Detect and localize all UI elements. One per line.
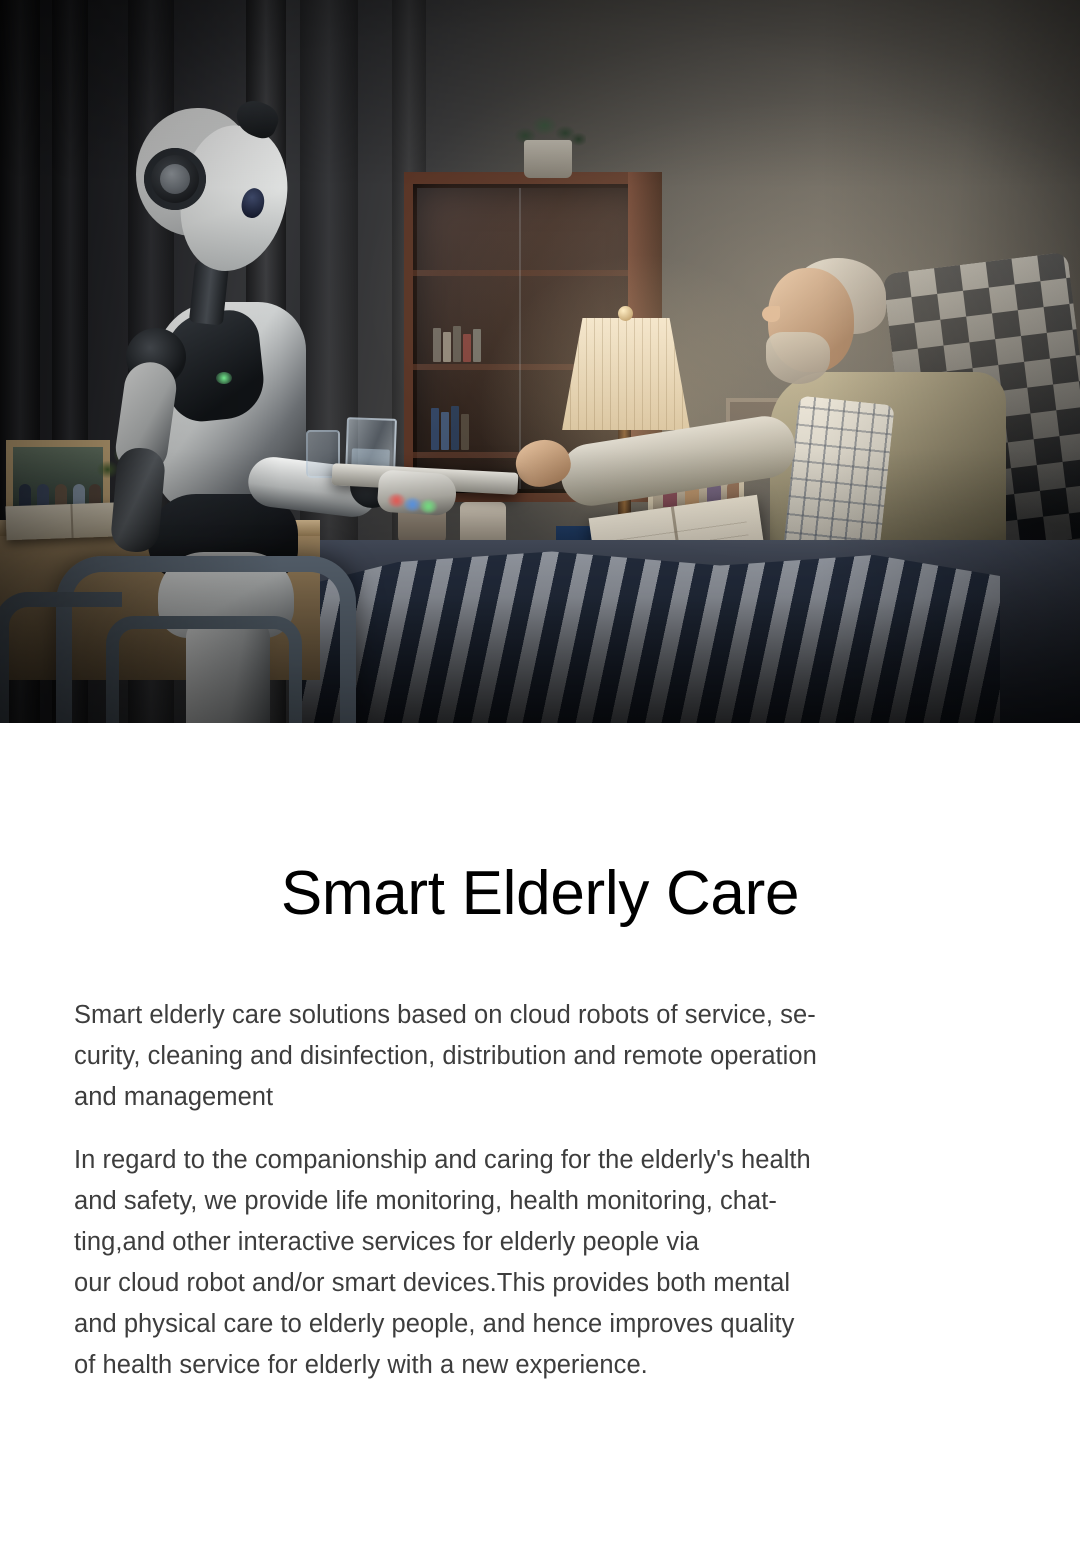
scene-vignette [0,0,1080,723]
hero-scene [0,0,1080,723]
paragraph-detail: In regard to the companionship and carin… [74,1140,1006,1386]
paragraph-line: of health service for elderly with a new… [74,1345,1006,1386]
page-title: Smart Elderly Care [74,863,1006,925]
hero-image [0,0,1080,723]
paragraph-intro: Smart elderly care solutions based on cl… [74,995,1006,1118]
paragraph-line: and safety, we provide life monitoring, … [74,1181,1006,1222]
paragraph-line: ting,and other interactive services for … [74,1222,1006,1263]
paragraph-line: In regard to the companionship and carin… [74,1140,1006,1181]
paragraph-line: and physical care to elderly people, and… [74,1304,1006,1345]
paragraph-line: curity, cleaning and disinfection, distr… [74,1036,1006,1077]
content-area: Smart Elderly Care Smart elderly care so… [0,863,1080,1386]
paragraph-line: and management [74,1077,1006,1118]
page-root: Smart Elderly Care Smart elderly care so… [0,0,1080,1561]
body-copy: Smart elderly care solutions based on cl… [74,995,1006,1386]
paragraph-line: our cloud robot and/or smart devices.Thi… [74,1263,1006,1304]
paragraph-line: Smart elderly care solutions based on cl… [74,995,1006,1036]
